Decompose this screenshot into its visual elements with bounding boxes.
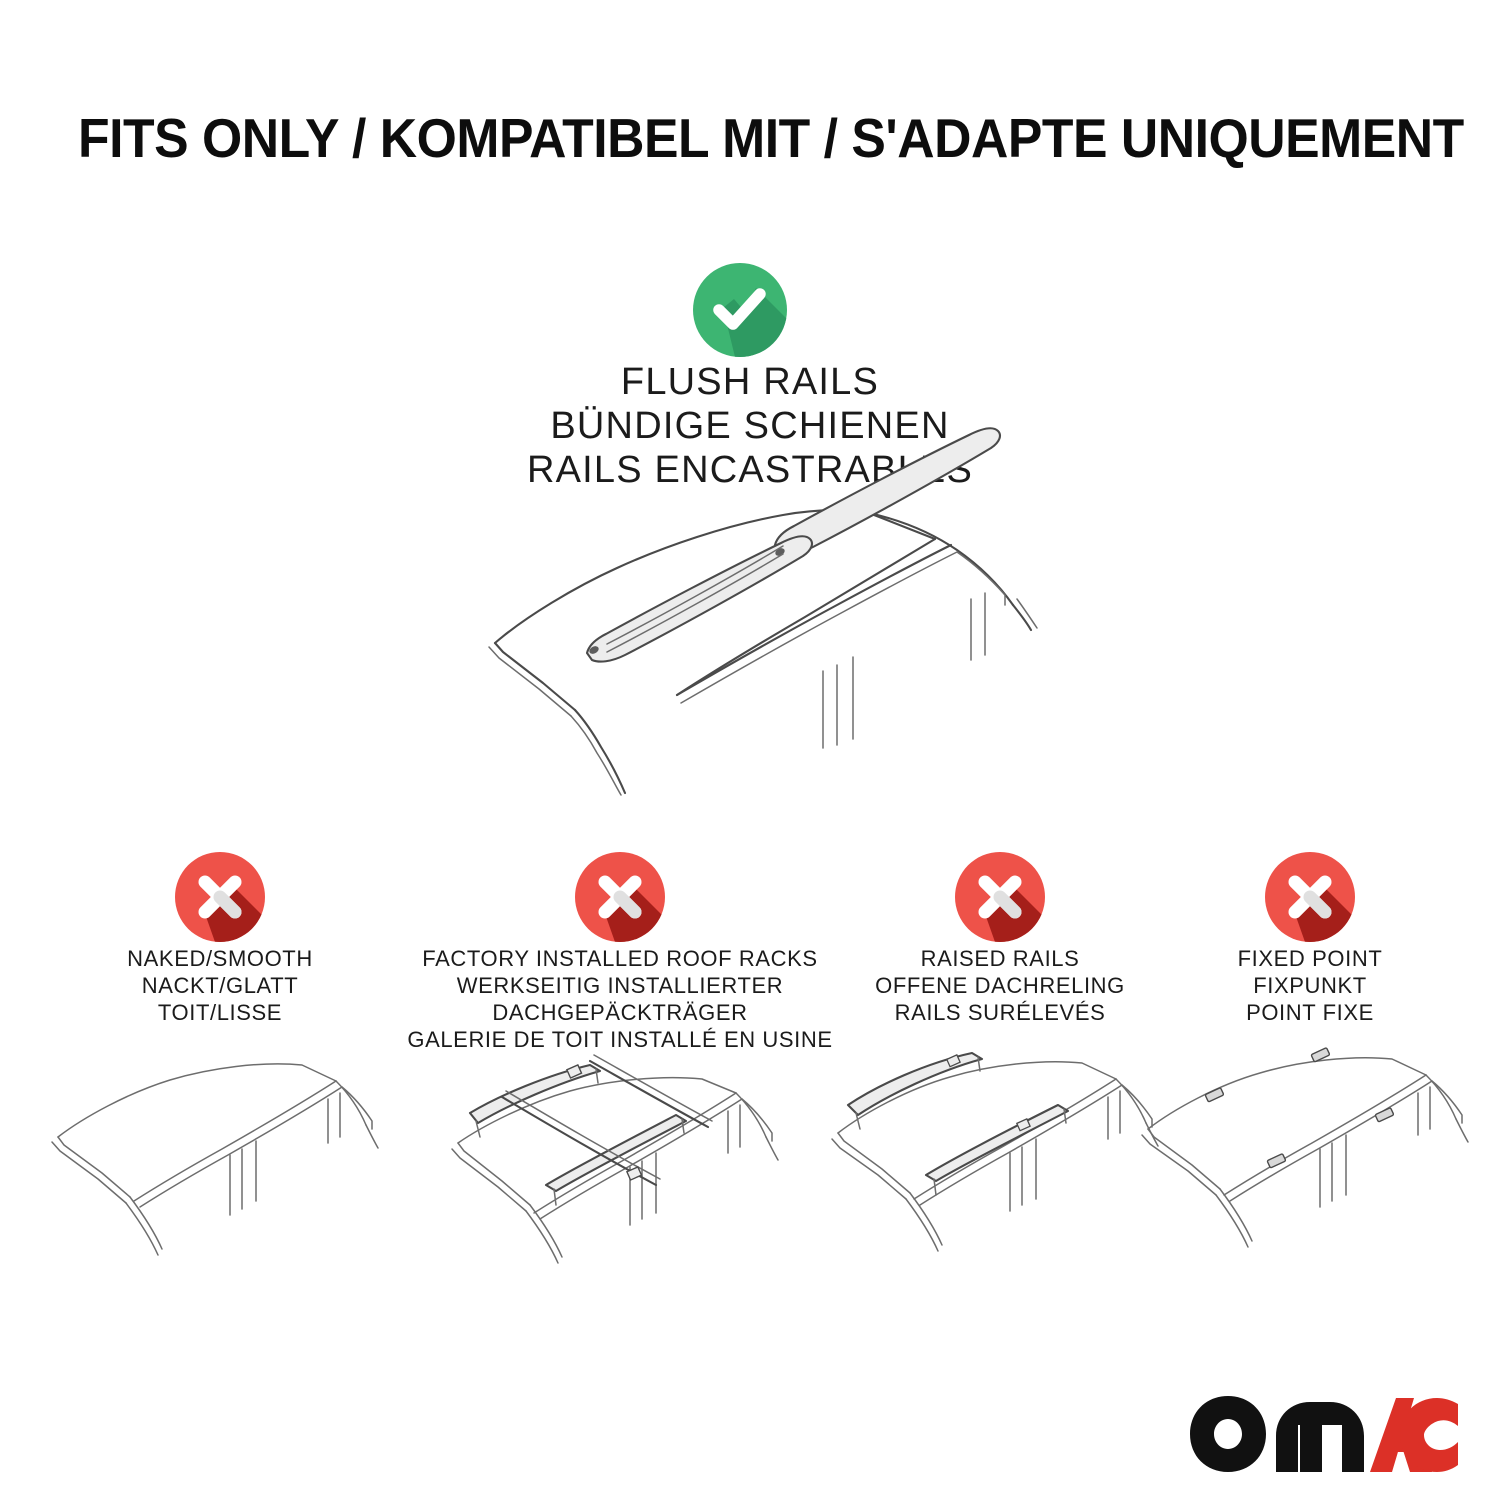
logo-letter-o	[1190, 1396, 1266, 1472]
x-circle-icon	[575, 852, 665, 942]
rejected-label-fr: RAILS SURÉLEVÉS	[875, 999, 1125, 1026]
car-roof-naked-smooth-illustration	[50, 1055, 390, 1285]
rejected-label-en: NAKED/SMOOTH	[127, 945, 313, 972]
rejected-label-fr: GALERIE DE TOIT INSTALLÉ EN USINE	[407, 1026, 832, 1053]
x-circle-icon	[1265, 852, 1355, 942]
approved-label-en: FLUSH RAILS	[0, 360, 1500, 404]
rejected-labels-raised-rails: RAISED RAILS OFFENE DACHRELING RAILS SUR…	[875, 945, 1125, 1026]
rejected-label-en: RAISED RAILS	[875, 945, 1125, 972]
car-roof-raised-rails-illustration	[830, 1055, 1170, 1285]
rejected-section: NAKED/SMOOTH NACKT/GLATT TOIT/LISSE	[0, 845, 1500, 1305]
rejected-label-de: NACKT/GLATT	[127, 972, 313, 999]
logo-letter-m	[1276, 1402, 1364, 1472]
rejected-labels-fixed-point: FIXED POINT FIXPUNKT POINT FIXE	[1238, 945, 1383, 1026]
rejected-label-de-2: DACHGEPÄCKTRÄGER	[407, 999, 832, 1026]
x-circle-icon	[175, 852, 265, 942]
car-roof-factory-roof-racks-illustration	[450, 1073, 790, 1303]
omac-logo	[1188, 1392, 1460, 1472]
rejected-labels-naked-smooth: NAKED/SMOOTH NACKT/GLATT TOIT/LISSE	[127, 945, 313, 1026]
x-circle-icon	[955, 852, 1045, 942]
approved-label-de: BÜNDIGE SCHIENEN	[0, 404, 1500, 448]
rejected-label-en: FIXED POINT	[1238, 945, 1383, 972]
car-roof-fixed-point-illustration	[1140, 1055, 1480, 1285]
approved-label-fr: RAILS ENCASTRABLES	[0, 448, 1500, 492]
rejected-label-fr: POINT FIXE	[1238, 999, 1383, 1026]
rejected-label-de: FIXPUNKT	[1238, 972, 1383, 999]
check-circle-icon	[693, 263, 787, 357]
approved-labels: FLUSH RAILS BÜNDIGE SCHIENEN RAILS ENCAS…	[0, 360, 1500, 492]
rejected-label-de-1: WERKSEITIG INSTALLIERTER	[407, 972, 832, 999]
rejected-label-de: OFFENE DACHRELING	[875, 972, 1125, 999]
approved-section: FLUSH RAILS BÜNDIGE SCHIENEN RAILS ENCAS…	[0, 0, 1500, 820]
rejected-labels-factory-roof-racks: FACTORY INSTALLED ROOF RACKS WERKSEITIG …	[407, 945, 832, 1053]
rejected-label-en: FACTORY INSTALLED ROOF RACKS	[407, 945, 832, 972]
car-roof-flush-rails-illustration	[465, 495, 1045, 795]
rejected-label-fr: TOIT/LISSE	[127, 999, 313, 1026]
